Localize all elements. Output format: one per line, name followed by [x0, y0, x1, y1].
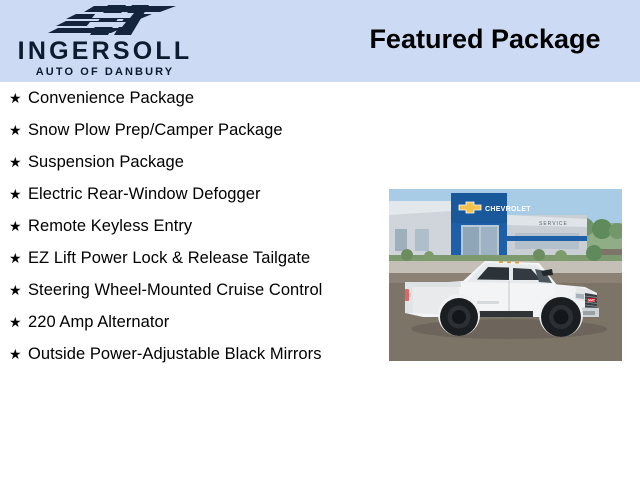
feature-list-item: ★Convenience Package: [0, 88, 372, 109]
page-title: Featured Package: [340, 22, 630, 56]
star-bullet-icon: ★: [9, 89, 22, 110]
star-bullet-icon: ★: [9, 345, 22, 366]
feature-list-item: ★Outside Power-Adjustable Black Mirrors: [0, 344, 372, 365]
star-bullet-icon: ★: [9, 153, 22, 174]
svg-text:GMC: GMC: [588, 298, 596, 302]
ingersoll-winged-emblem-icon: [48, 4, 180, 38]
feature-list-item: ★220 Amp Alternator: [0, 312, 372, 333]
feature-list-item: ★Steering Wheel-Mounted Cruise Control: [0, 280, 372, 301]
star-bullet-icon: ★: [9, 121, 22, 142]
feature-label: Suspension Package: [28, 152, 372, 173]
feature-label: Snow Plow Prep/Camper Package: [28, 120, 372, 141]
feature-list-item: ★EZ Lift Power Lock & Release Tailgate: [0, 248, 372, 269]
feature-list-item: ★Snow Plow Prep/Camper Package: [0, 120, 372, 141]
feature-label: Remote Keyless Entry: [28, 216, 372, 237]
feature-list-item: ★Suspension Package: [0, 152, 372, 173]
feature-label: Steering Wheel-Mounted Cruise Control: [28, 280, 372, 301]
svg-text:SERVICE: SERVICE: [539, 221, 568, 227]
star-bullet-icon: ★: [9, 313, 22, 334]
vehicle-photo: SERVICE CHEVROLET: [389, 189, 622, 361]
feature-list: ★Convenience Package★Snow Plow Prep/Camp…: [0, 88, 372, 376]
feature-label: Electric Rear-Window Defogger: [28, 184, 372, 205]
star-bullet-icon: ★: [9, 249, 22, 270]
dealer-wordmark: INGERSOLL: [6, 38, 204, 64]
star-bullet-icon: ★: [9, 281, 22, 302]
feature-label: EZ Lift Power Lock & Release Tailgate: [28, 248, 372, 269]
feature-list-item: ★Remote Keyless Entry: [0, 216, 372, 237]
star-bullet-icon: ★: [9, 185, 22, 206]
star-bullet-icon: ★: [9, 217, 22, 238]
dealer-subline: AUTO OF DANBURY: [6, 66, 204, 79]
feature-label: Outside Power-Adjustable Black Mirrors: [28, 344, 372, 365]
svg-text:CHEVROLET: CHEVROLET: [485, 206, 531, 213]
feature-label: 220 Amp Alternator: [28, 312, 372, 333]
dealer-logo: INGERSOLL AUTO OF DANBURY: [0, 2, 210, 82]
feature-label: Convenience Package: [28, 88, 372, 109]
feature-list-item: ★Electric Rear-Window Defogger: [0, 184, 372, 205]
